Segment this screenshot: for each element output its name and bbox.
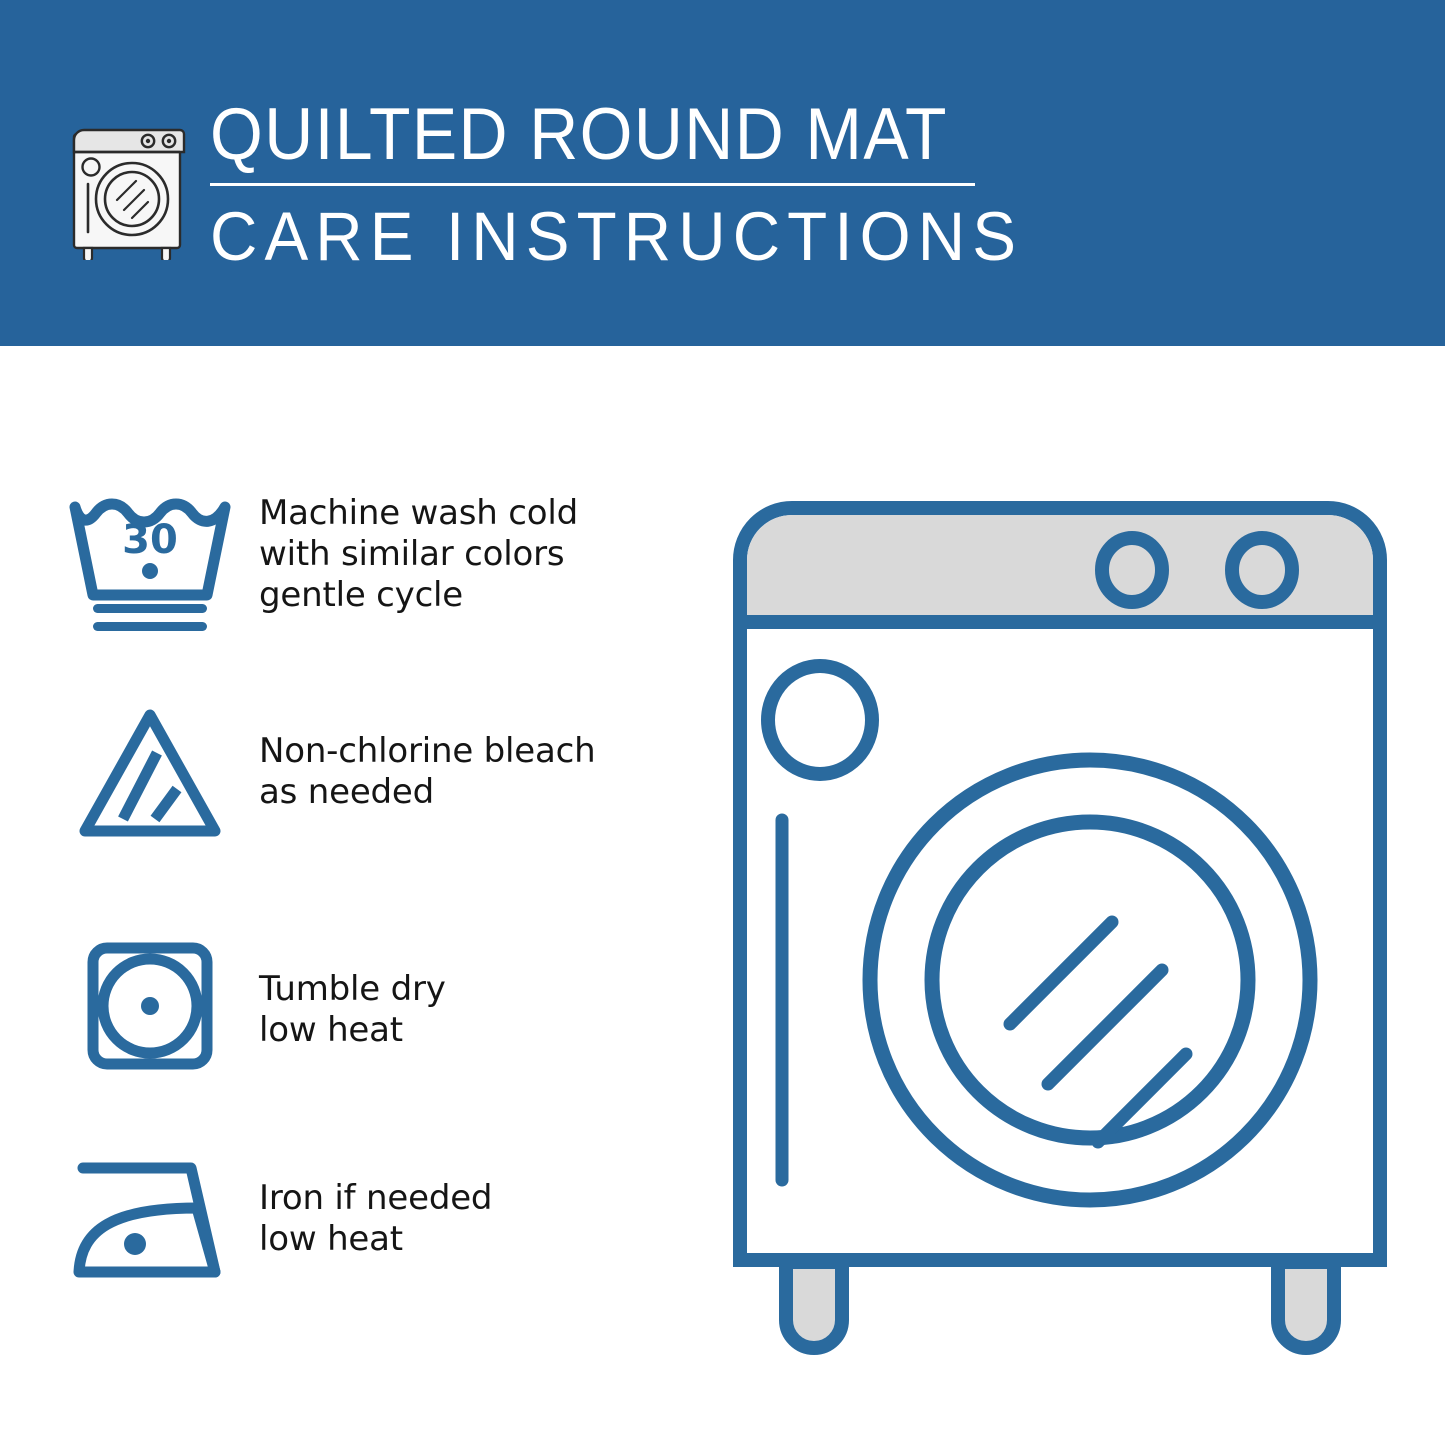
care-line: with similar colors: [259, 534, 578, 575]
header-band: QUILTED ROUND MAT CARE INSTRUCTIONS: [0, 0, 1445, 346]
washing-machine-icon: [62, 100, 192, 260]
page-subtitle: CARE INSTRUCTIONS: [210, 200, 961, 274]
tumble-dry-low-icon: [62, 934, 237, 1079]
care-instructions-page: QUILTED ROUND MAT CARE INSTRUCTIONS 30: [0, 0, 1445, 1445]
care-item-bleach: Non-chlorine bleach as needed: [0, 701, 700, 846]
care-item-bleach-label: Non-chlorine bleach as needed: [259, 701, 595, 813]
care-line: Tumble dry: [259, 969, 446, 1010]
non-chlorine-bleach-icon: [62, 701, 237, 846]
title-divider: [210, 183, 975, 186]
care-item-tumble-dry: Tumble dry low heat: [0, 934, 700, 1079]
care-item-iron-label: Iron if needed low heat: [259, 1146, 492, 1260]
care-item-wash: 30 Machine wash cold with similar colors…: [0, 491, 700, 636]
washing-machine-illustration: [700, 440, 1420, 1400]
machine-wash-30-gentle-icon: 30: [62, 491, 237, 636]
care-instruction-list: 30 Machine wash cold with similar colors…: [0, 346, 700, 1445]
iron-low-heat-icon: [62, 1146, 237, 1291]
page-title: QUILTED ROUND MAT: [210, 96, 945, 174]
care-line: as needed: [259, 772, 595, 813]
care-line: Machine wash cold: [259, 493, 578, 534]
care-item-tumble-dry-label: Tumble dry low heat: [259, 934, 446, 1051]
care-line: Non-chlorine bleach: [259, 731, 595, 772]
care-item-iron: Iron if needed low heat: [0, 1146, 700, 1291]
care-line: low heat: [259, 1219, 492, 1260]
header-text-block: QUILTED ROUND MAT CARE INSTRUCTIONS: [210, 96, 1000, 274]
care-line: gentle cycle: [259, 575, 578, 616]
care-line: Iron if needed: [259, 1178, 492, 1219]
care-line: low heat: [259, 1010, 446, 1051]
care-item-wash-label: Machine wash cold with similar colors ge…: [259, 491, 578, 616]
wash-temperature-value: 30: [122, 517, 178, 563]
